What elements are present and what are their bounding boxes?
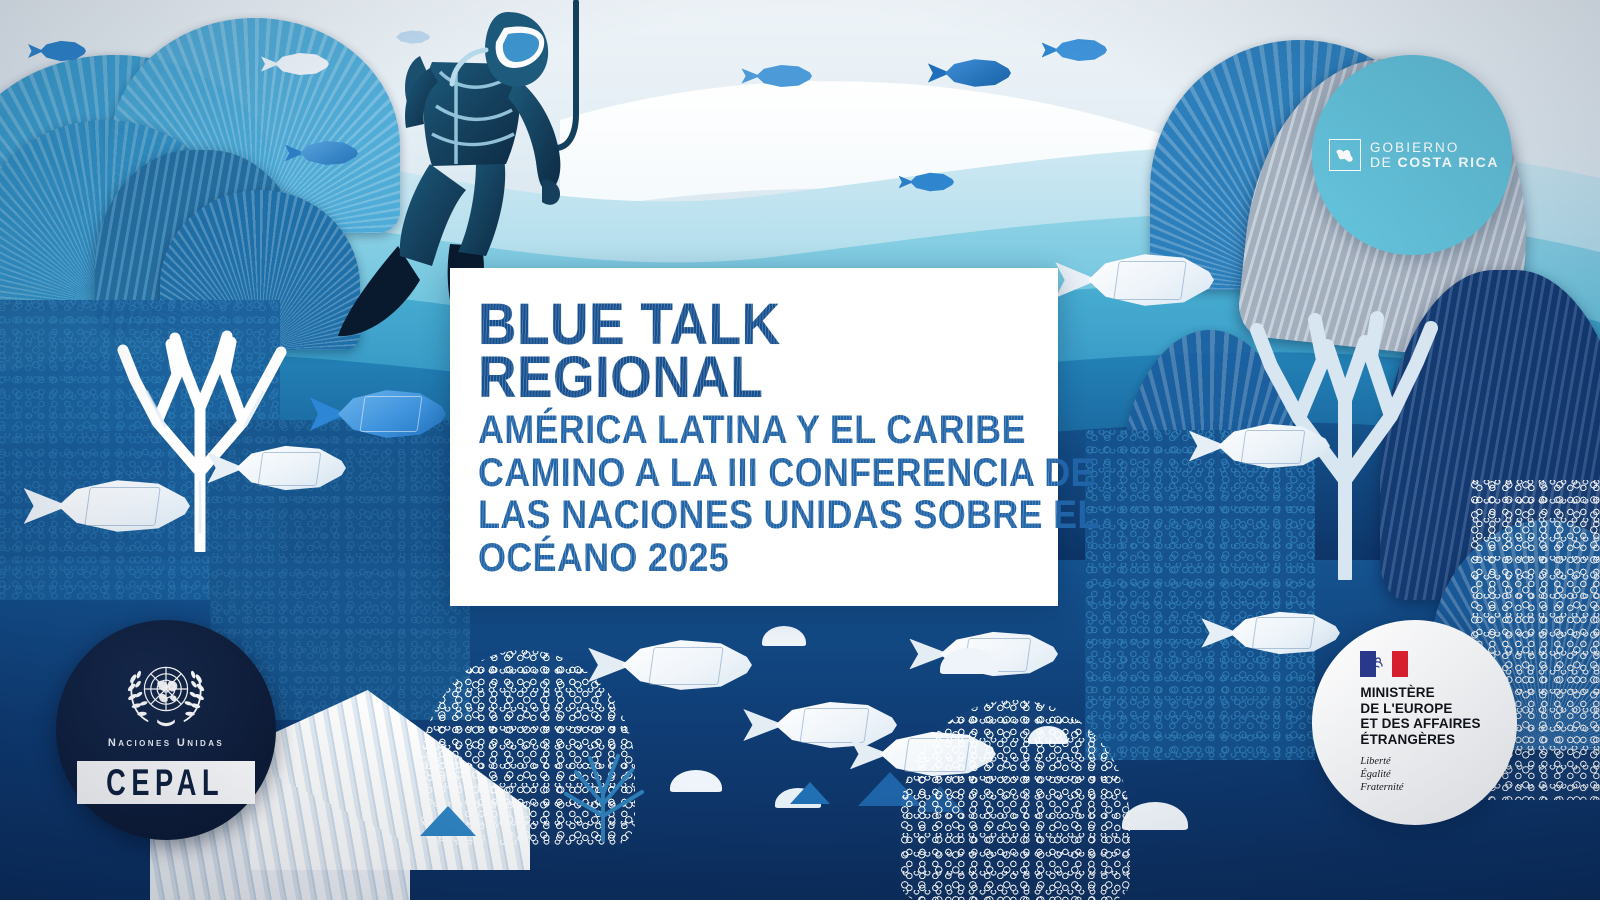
un-emblem-icon	[122, 657, 210, 729]
title-panel: BLUE TALK REGIONAL AMÉRICA LATINA Y EL C…	[450, 268, 1058, 606]
poster-canvas: BLUE TALK REGIONAL AMÉRICA LATINA Y EL C…	[0, 0, 1600, 900]
logo-gobierno-costa-rica[interactable]: GOBIERNO DE COSTA RICA	[1312, 55, 1512, 255]
ministry-line-4: ÉTRANGÈRES	[1360, 732, 1480, 748]
ministry-title: MINISTÈRE DE L'EUROPE ET DES AFFAIRES ÉT…	[1360, 685, 1480, 748]
subtitle-line-2: CAMINO A LA III CONFERENCIA DE	[478, 452, 1000, 495]
origami-fish-right-3	[1230, 610, 1340, 656]
subtitle-line-3: LAS NACIONES UNIDAS SOBRE EL	[478, 494, 1000, 537]
logo-ministere-europe-affaires-etrangeres[interactable]: MINISTÈRE DE L'EUROPE ET DES AFFAIRES ÉT…	[1312, 620, 1517, 825]
origami-fish-top-6	[1055, 38, 1107, 62]
ministry-line-2: DE L'EUROPE	[1360, 701, 1480, 717]
origami-fish-top-1	[40, 40, 86, 62]
origami-fish-top-5	[945, 58, 1011, 88]
french-republic-motto: Liberté Égalité Fraternité	[1360, 755, 1480, 794]
costa-rica-map-shape-icon	[1335, 146, 1355, 164]
origami-fish-left-2	[236, 444, 346, 492]
motto-liberte: Liberté	[1360, 755, 1480, 768]
origami-fish-blue-left	[338, 388, 446, 440]
ministry-line-3: ET DES AFFAIRES	[1360, 716, 1480, 732]
subtitle-block: AMÉRICA LATINA Y EL CARIBE CAMINO A LA I…	[478, 409, 1000, 580]
seaweed-left	[548, 742, 658, 842]
origami-fish-top-7	[910, 172, 954, 192]
marianne-profile-icon	[1367, 655, 1387, 673]
logo-naciones-unidas-cepal[interactable]: Naciones Unidas CEPAL	[56, 620, 276, 840]
cepal-wordmark: CEPAL	[106, 764, 227, 801]
subtitle-line-4: OCÉANO 2025	[478, 537, 1000, 580]
motto-fraternite: Fraternité	[1360, 781, 1480, 794]
origami-fish-right-2	[1218, 422, 1330, 470]
costa-rica-name: COSTA RICA	[1397, 154, 1499, 170]
origami-fish-school-1	[622, 638, 752, 692]
cepal-box: CEPAL	[77, 761, 256, 804]
french-flag-marianne-icon	[1360, 651, 1408, 677]
costa-rica-wordmark: GOBIERNO DE COSTA RICA	[1370, 140, 1499, 171]
origami-fish-school-2	[775, 700, 897, 750]
motto-egalite: Égalité	[1360, 768, 1480, 781]
costa-rica-line-1: GOBIERNO	[1370, 140, 1499, 155]
costa-rica-line-2: DE COSTA RICA	[1370, 155, 1499, 171]
origami-fish-left-1	[58, 478, 190, 534]
un-organization-label: Naciones Unidas	[108, 737, 224, 749]
subtitle-line-1: AMÉRICA LATINA Y EL CARIBE	[478, 409, 1000, 452]
ministry-line-1: MINISTÈRE	[1360, 685, 1480, 701]
origami-fish-right-1	[1088, 252, 1214, 308]
costa-rica-map-icon	[1329, 139, 1361, 171]
page-title: BLUE TALK REGIONAL	[478, 298, 1012, 405]
origami-fish-top-4	[756, 64, 812, 88]
costa-rica-de: DE	[1370, 154, 1398, 170]
